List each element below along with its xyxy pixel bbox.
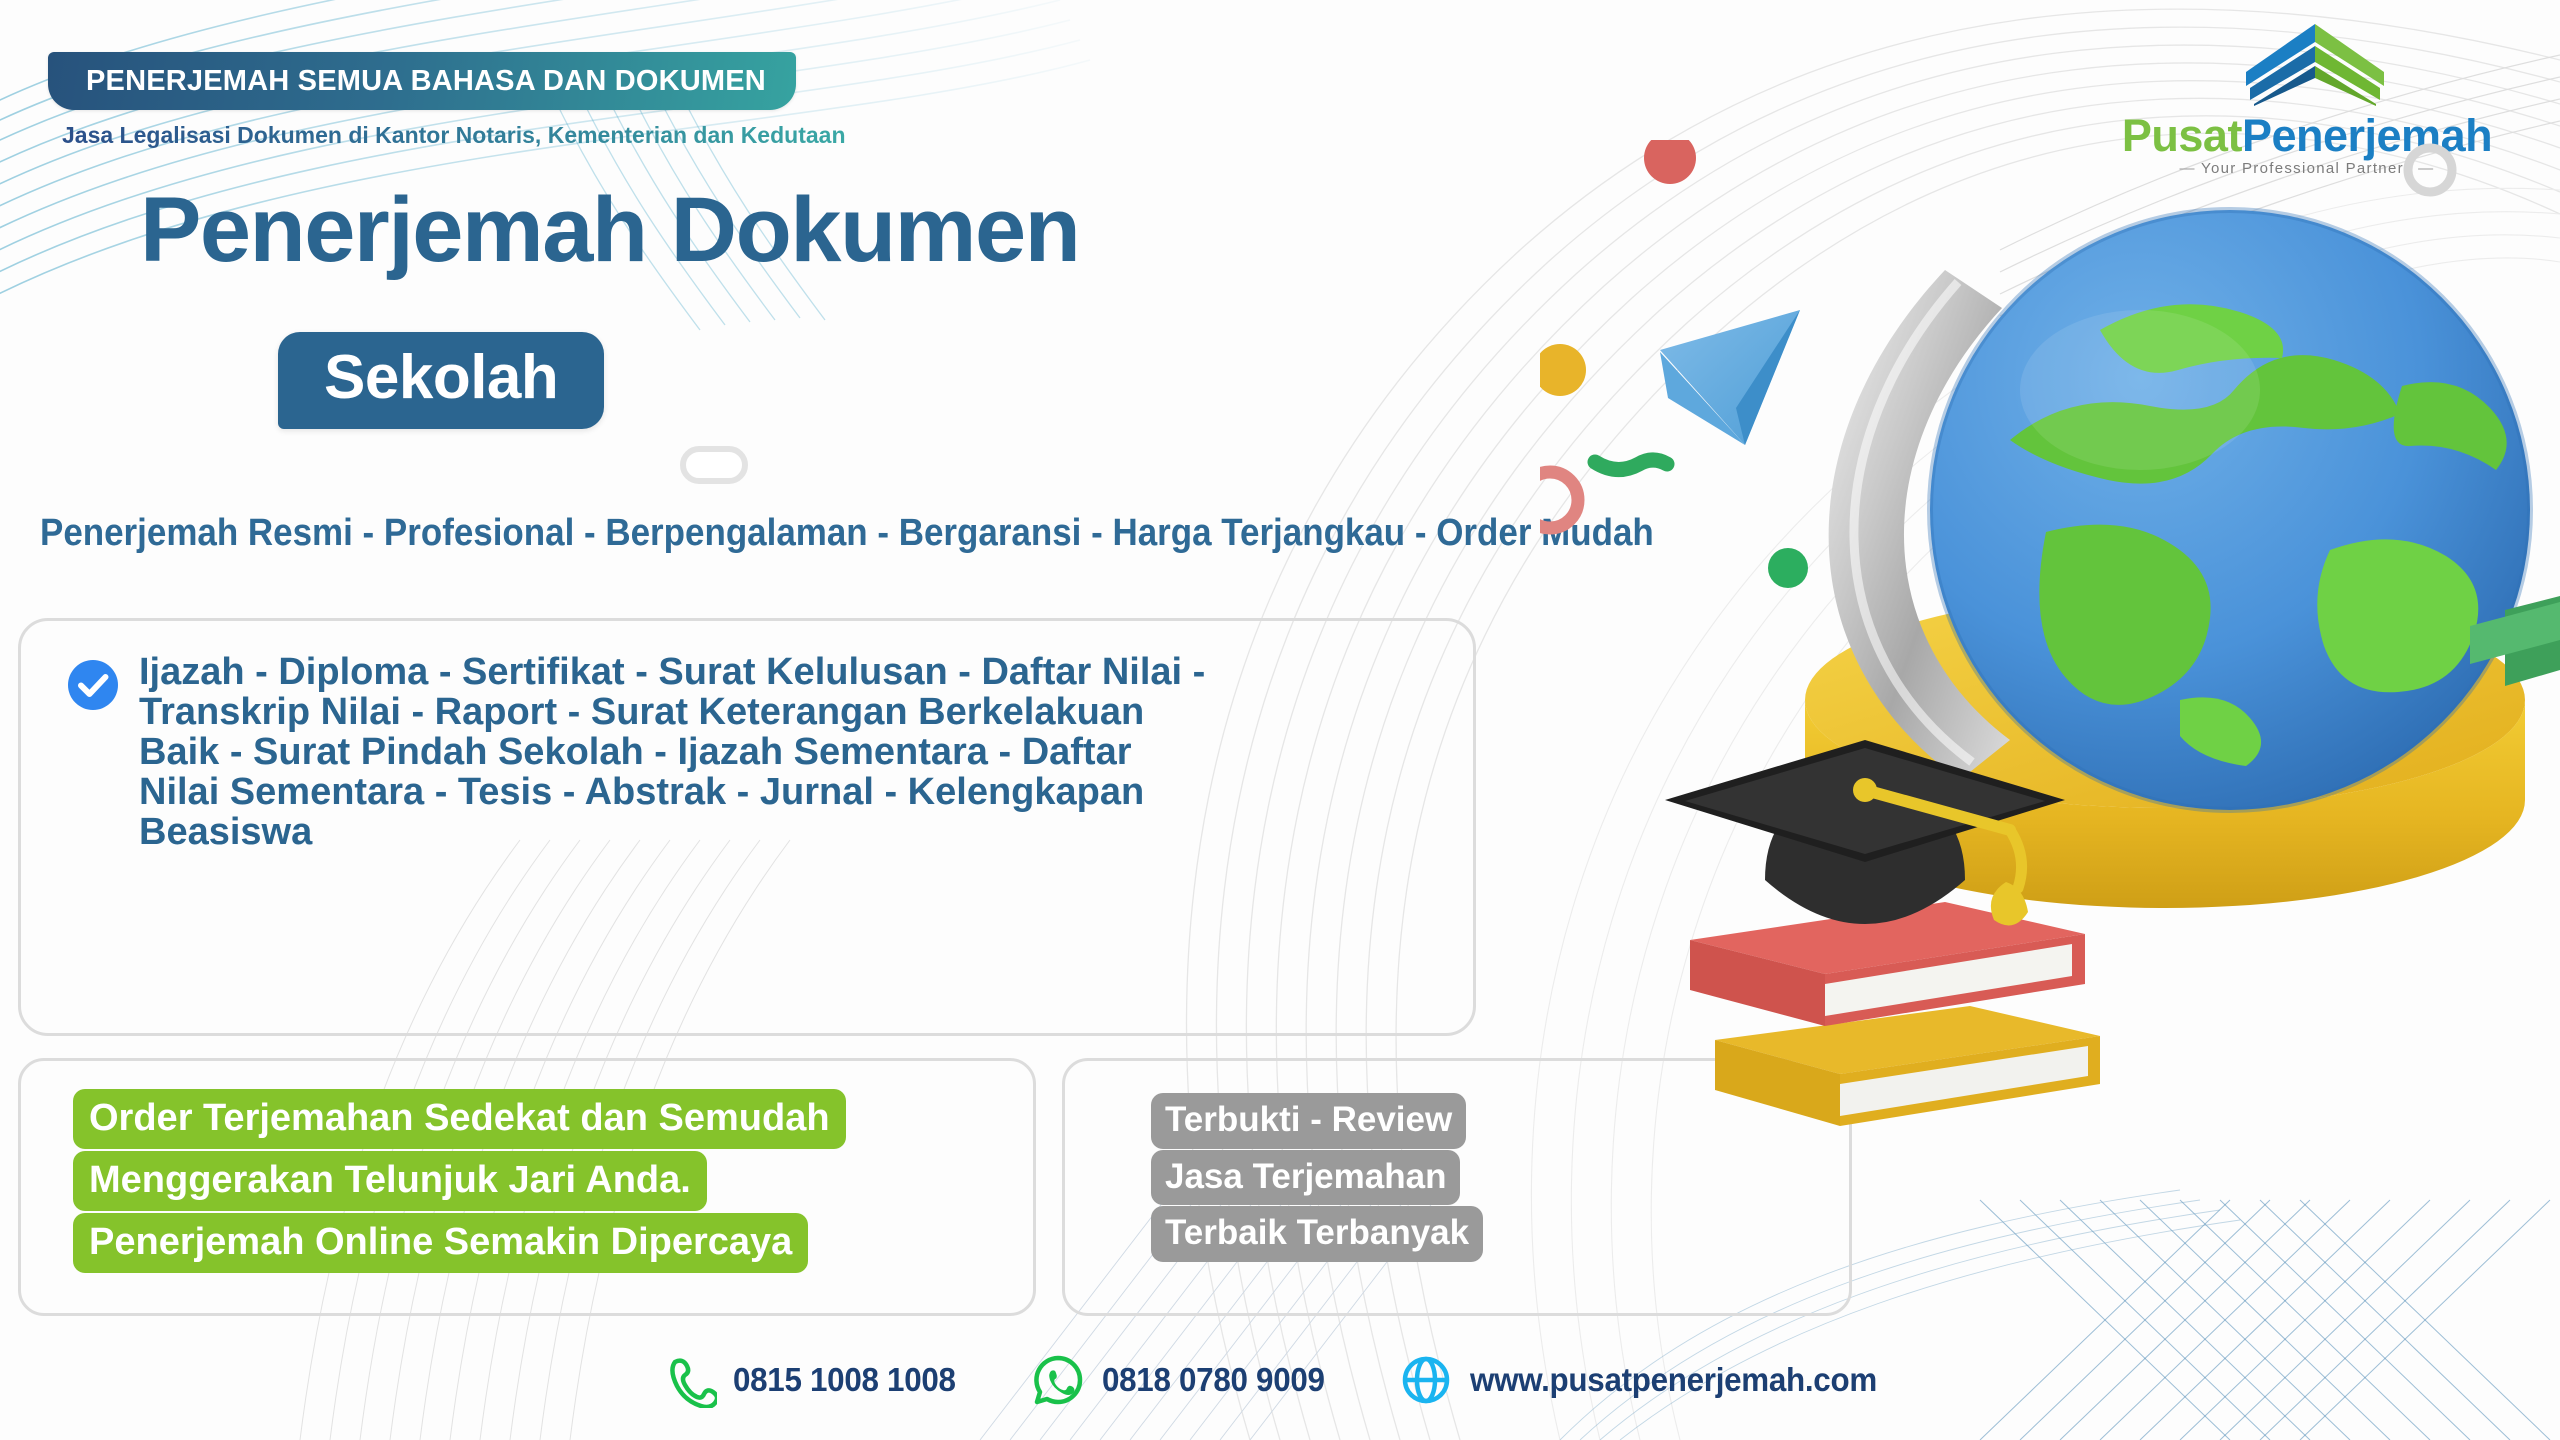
header-ribbon: PENERJEMAH SEMUA BAHASA DAN DOKUMEN: [48, 52, 796, 110]
dot-green: [1768, 548, 1808, 588]
promo-green-line: Penerjemah Online Semakin Dipercaya: [73, 1213, 808, 1273]
banner-canvas: PENERJEMAH SEMUA BAHASA DAN DOKUMEN Jasa…: [0, 0, 2560, 1440]
contact-website-value: www.pusatpenerjemah.com: [1470, 1361, 1877, 1399]
dot-red: [1644, 140, 1696, 184]
promo-gray-line: Terbaik Terbanyak: [1151, 1206, 1483, 1262]
promo-green-text: Order Terjemahan Sedekat dan Semudah Men…: [73, 1089, 1003, 1275]
promo-green-card: Order Terjemahan Sedekat dan Semudah Men…: [18, 1058, 1036, 1316]
ring-grey: [2408, 148, 2452, 192]
header-ribbon-text: PENERJEMAH SEMUA BAHASA DAN DOKUMEN: [86, 65, 766, 98]
paper-plane-3d: [1660, 310, 1800, 445]
promo-green-line: Order Terjemahan Sedekat dan Semudah: [73, 1089, 846, 1149]
dot-yellow: [1540, 344, 1586, 396]
contact-phone[interactable]: 0815 1008 1008: [661, 1352, 967, 1408]
documents-line: Baik - Surat Pindah Sekolah - Ijazah Sem…: [139, 733, 1439, 773]
globe-3d: [1930, 210, 2530, 810]
check-circle-icon: [67, 659, 119, 711]
header-subtitle: Jasa Legalisasi Dokumen di Kantor Notari…: [62, 122, 846, 149]
decorative-toggle-shape: [680, 446, 748, 484]
page-title: Penerjemah Dokumen: [140, 178, 1079, 283]
documents-line: Nilai Sementara - Tesis - Abstrak - Jurn…: [139, 773, 1439, 813]
promo-gray-text: Terbukti - Review Jasa Terjemahan Terbai…: [1151, 1093, 1551, 1263]
phone-icon: [661, 1352, 717, 1408]
book-stack-3d: [1690, 902, 2100, 1126]
ring-red: [1540, 472, 1578, 528]
contact-website[interactable]: www.pusatpenerjemah.com: [1398, 1352, 1898, 1408]
whatsapp-icon: [1030, 1352, 1086, 1408]
category-pill: Sekolah: [278, 332, 604, 429]
documents-card: Ijazah - Diploma - Sertifikat - Surat Ke…: [18, 618, 1476, 1036]
globe-icon: [1398, 1352, 1454, 1408]
documents-line: Beasiswa: [139, 813, 1439, 853]
promo-gray-line: Jasa Terjemahan: [1151, 1150, 1460, 1206]
documents-line: Transkrip Nilai - Raport - Surat Keteran…: [139, 693, 1439, 733]
documents-line: Ijazah - Diploma - Sertifikat - Surat Ke…: [139, 653, 1439, 693]
squiggle-green: [1595, 460, 1667, 470]
contact-whatsapp[interactable]: 0818 0780 9009: [1030, 1352, 1336, 1408]
contact-bar: 0815 1008 1008 0818 0780 9009 www.pusatp…: [0, 1352, 2560, 1408]
building-logo-mark: [2240, 20, 2390, 106]
contact-phone-value: 0815 1008 1008: [733, 1361, 956, 1399]
hero-tagline: Penerjemah Resmi - Profesional - Berpeng…: [40, 512, 1654, 555]
promo-green-line: Menggerakan Telunjuk Jari Anda.: [73, 1151, 707, 1211]
promo-gray-line: Terbukti - Review: [1151, 1093, 1466, 1149]
documents-list: Ijazah - Diploma - Sertifikat - Surat Ke…: [139, 653, 1439, 852]
contact-whatsapp-value: 0818 0780 9009: [1102, 1361, 1325, 1399]
education-illustration: [1540, 140, 2560, 1320]
